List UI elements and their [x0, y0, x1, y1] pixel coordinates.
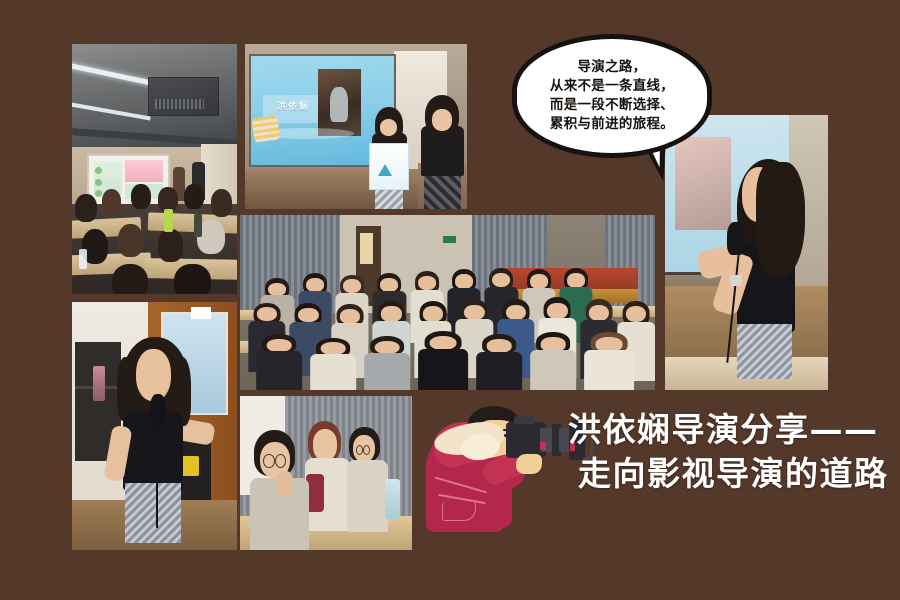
student-right	[347, 427, 388, 532]
speech-bubble: 导演之路， 从来不是一条直线， 而是一段不断选择、 累积与前进的旅程。	[512, 34, 712, 158]
slide-subtitle-text: ・ ・ ・ ・ ・	[274, 115, 307, 121]
student-head	[211, 189, 232, 217]
title-line-2: 走向影视导演的道路	[568, 452, 889, 496]
student-head	[131, 184, 151, 209]
slide-bullet-dot	[95, 190, 102, 197]
speaker-hair-front	[756, 162, 805, 278]
resting-hand	[277, 471, 292, 497]
water-bottle	[79, 249, 87, 269]
posted-paper	[191, 307, 211, 319]
microphone-icon	[727, 222, 745, 255]
slide-block-pink	[125, 160, 163, 182]
water-bottle	[385, 479, 400, 519]
exit-sign-icon	[443, 236, 455, 243]
illustration-hand	[516, 454, 542, 474]
slide-decoration	[251, 115, 280, 142]
water-bottle	[194, 214, 202, 237]
student-head	[158, 187, 178, 212]
air-conditioner	[148, 77, 219, 117]
group-person-front	[311, 338, 357, 391]
slide-figure	[330, 87, 348, 122]
air-vent	[155, 99, 205, 109]
presenter-face	[432, 109, 453, 130]
student-head	[184, 184, 204, 209]
student-head	[75, 194, 96, 222]
group-person-front	[584, 332, 634, 390]
speech-bubble-text: 导演之路， 从来不是一条直线， 而是一段不断选择、 累积与前进的旅程。	[544, 58, 680, 135]
student-head	[102, 189, 122, 214]
slide-portrait-image	[318, 69, 361, 137]
camera-accent	[540, 442, 546, 450]
poster-triangle-icon	[378, 164, 392, 176]
speaker-pants	[125, 483, 181, 543]
speech-bubble-body: 导演之路， 从来不是一条直线， 而是一段不断选择、 累积与前进的旅程。	[512, 34, 712, 158]
presenter-right	[418, 90, 467, 209]
group-person-front	[477, 334, 523, 390]
group-person-front	[257, 334, 303, 390]
speaker-pants	[737, 324, 792, 379]
group-person-speaker	[418, 331, 468, 391]
student-head	[118, 224, 143, 257]
student-head	[112, 264, 148, 294]
held-poster	[369, 143, 409, 190]
presenter-face	[380, 119, 398, 136]
water-bottle	[93, 366, 105, 401]
photo-students-listening	[240, 396, 412, 550]
microphone-icon	[150, 394, 167, 426]
jacket-pocket	[442, 502, 476, 521]
speaker-face	[136, 349, 171, 401]
water-bottle	[164, 209, 172, 232]
photo-lecture-hall	[72, 44, 237, 294]
photographer-illustration	[420, 398, 570, 533]
student-middle	[305, 421, 350, 532]
wristwatch	[730, 275, 741, 286]
title-line-1: 洪依娴导演分享——	[568, 408, 889, 452]
camera-top-icon	[514, 416, 534, 424]
student-head	[174, 264, 210, 294]
student-head	[158, 229, 183, 262]
slide-bullet-dot	[95, 179, 102, 186]
poster-canvas: 洪依娴 ・ ・ ・ ・ ・	[0, 0, 900, 600]
student-left	[250, 430, 308, 550]
door-light	[360, 233, 372, 265]
photo-speaker-microphone-left	[72, 302, 237, 550]
poster-title: 洪依娴导演分享—— 走向影视导演的道路	[568, 408, 889, 496]
slide-title-text: 洪依娴	[277, 99, 310, 112]
group-person-front	[531, 332, 577, 390]
photo-two-presenters-slide: 洪依娴 ・ ・ ・ ・ ・	[245, 44, 467, 209]
microphone-cable	[156, 424, 158, 528]
group-person-front	[365, 336, 411, 390]
photo-group	[240, 215, 655, 390]
bin-label	[181, 456, 199, 476]
